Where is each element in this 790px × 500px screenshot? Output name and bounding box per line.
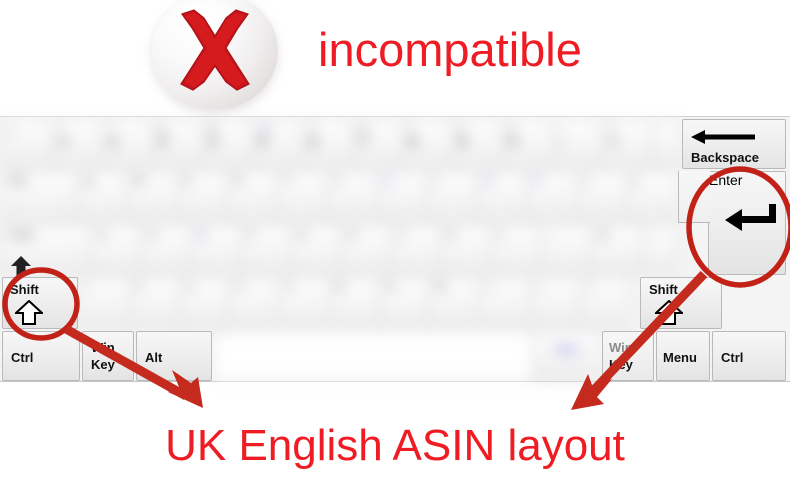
- layout-caption: UK English ASIN layout: [0, 424, 790, 468]
- enter-key[interactable]: Enter: [708, 171, 786, 275]
- right-ctrl-label: Ctrl: [721, 350, 743, 365]
- keyboard-sharp-keys: Backspace Enter Shift Shift: [0, 117, 790, 381]
- arrow-up-solid-icon: [10, 255, 32, 277]
- right-shift-label: Shift: [649, 282, 678, 297]
- arrow-left-icon: [691, 130, 755, 144]
- alt-label: Alt: [145, 350, 162, 365]
- right-win-key[interactable]: Win Key: [602, 331, 654, 381]
- left-ctrl-key[interactable]: Ctrl: [2, 331, 80, 381]
- left-win-label: Win: [91, 340, 115, 355]
- left-win-key[interactable]: Win Key: [82, 331, 134, 381]
- backspace-key[interactable]: Backspace: [682, 119, 786, 169]
- arrow-up-outline-icon: [15, 300, 43, 326]
- left-shift-label: Shift: [10, 282, 39, 297]
- left-shift-key[interactable]: Shift: [2, 277, 78, 329]
- return-arrow-icon: [725, 204, 781, 232]
- left-ctrl-label: Ctrl: [11, 350, 33, 365]
- alt-key[interactable]: Alt: [136, 331, 212, 381]
- right-win-label: Win: [609, 340, 633, 355]
- red-x-sphere-icon: [152, 0, 278, 106]
- left-win-sublabel: Key: [91, 357, 115, 372]
- keyboard-image: ¬` !1 "2 £3 $4 %5 ^6 &7 *8 (9 )0 _- += T…: [0, 116, 790, 382]
- right-ctrl-key[interactable]: Ctrl: [712, 331, 786, 381]
- enter-key-upper-notch[interactable]: [678, 171, 710, 223]
- incompatible-label: incompatible: [318, 26, 582, 73]
- right-shift-key[interactable]: Shift: [640, 277, 722, 329]
- menu-key[interactable]: Menu: [656, 331, 710, 381]
- enter-label: Enter: [709, 172, 742, 188]
- x-mark-icon: [152, 0, 278, 110]
- arrow-up-outline-icon: [655, 300, 683, 326]
- menu-label: Menu: [663, 350, 697, 365]
- incompatible-banner: incompatible: [0, 0, 790, 110]
- backspace-label: Backspace: [691, 150, 759, 165]
- right-win-sublabel: Key: [609, 357, 633, 372]
